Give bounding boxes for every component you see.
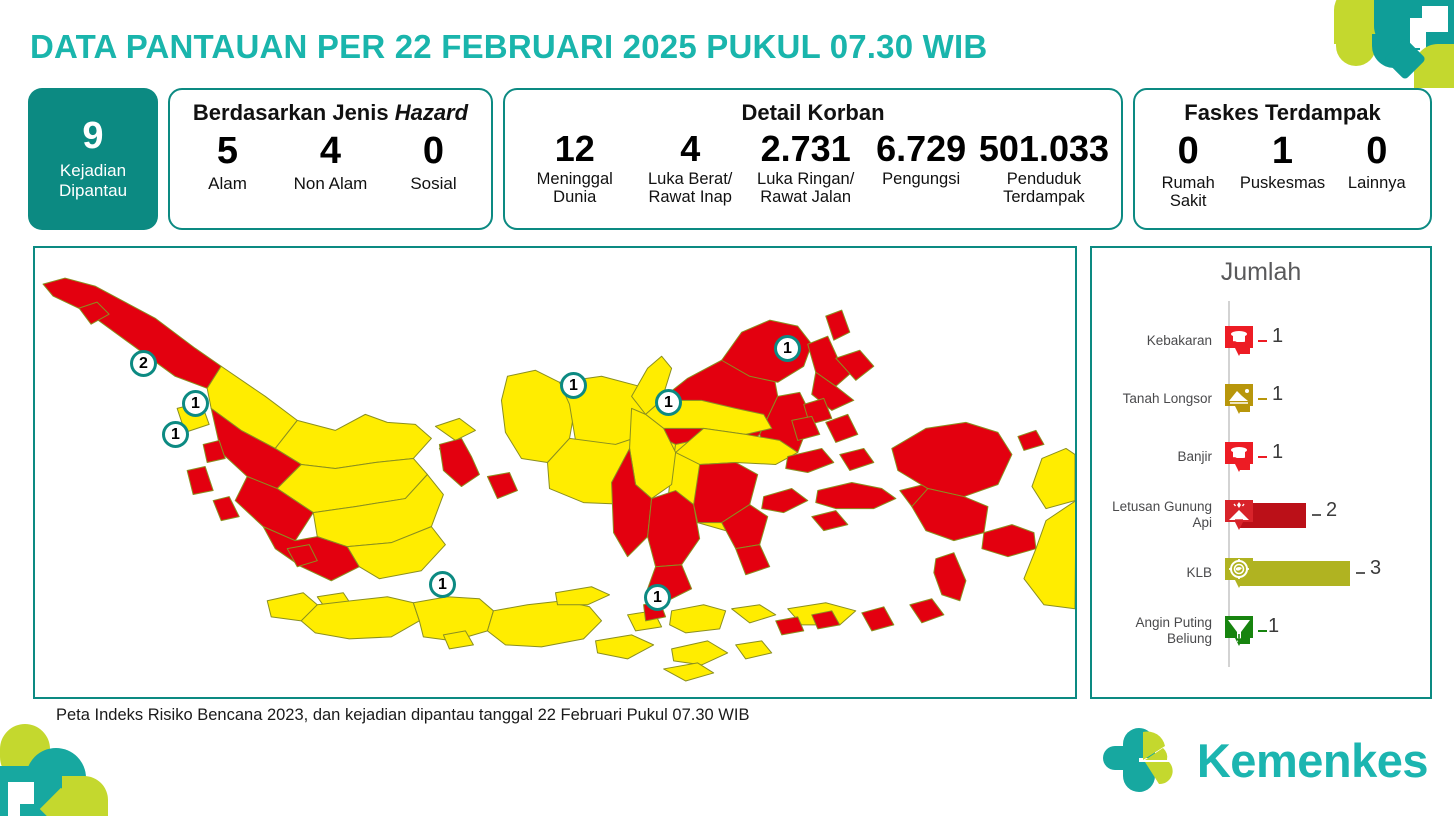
bar-label-klb: KLB: [1092, 565, 1220, 581]
flood-house-icon: [1222, 440, 1256, 474]
stat-meninggal-dunia: 12 Meninggal Dunia: [517, 130, 632, 207]
jumlah-chart-panel: Jumlah Kebakaran 1: [1090, 246, 1432, 699]
dashboard-page: DATA PANTAUAN PER 22 FEBRUARI 2025 PUKUL…: [0, 0, 1454, 816]
kejadian-dipantau-badge: 9 Kejadian Dipantau: [28, 88, 158, 230]
faskes-card-title: Faskes Terdampak: [1135, 100, 1430, 126]
stat-puskesmas-value: 1: [1235, 132, 1329, 172]
stat-non-alam-value: 4: [279, 132, 382, 172]
bar-tick-banjir: [1258, 456, 1267, 458]
bar-row-letusan-gunung-api[interactable]: Letusan Gunung Api 2: [1092, 487, 1434, 543]
bar-label-angin-puting-beliung: Angin Puting Beliung: [1092, 615, 1220, 647]
region-maluku6: [812, 511, 848, 531]
stat-meninggal-label: Meninggal Dunia: [517, 170, 632, 207]
bar-label-kebakaran: Kebakaran: [1092, 333, 1220, 349]
stat-luka-berat-value: 4: [632, 130, 747, 168]
stat-rumah-sakit-label: Rumah Sakit: [1141, 174, 1235, 211]
landslide-icon: [1222, 382, 1256, 416]
stat-alam: 5 Alam: [176, 132, 279, 193]
stat-penduduk-value: 501.033: [979, 130, 1109, 168]
map-marker-maluku-utara[interactable]: 1: [774, 335, 801, 362]
stat-rumah-sakit: 0 Rumah Sakit: [1141, 132, 1235, 211]
region-ntt2: [596, 635, 654, 659]
region-ntb: [670, 605, 726, 633]
korban-card-title: Detail Korban: [505, 100, 1121, 126]
bar-value-letusan-gunung-api: 2: [1326, 499, 1337, 522]
bar-tick-klb: [1356, 572, 1365, 574]
region-papua2: [1032, 448, 1075, 508]
stat-alam-value: 5: [176, 132, 279, 172]
kejadian-count: 9: [82, 117, 103, 155]
stat-sosial-value: 0: [382, 132, 485, 172]
flood-house-icon: [1222, 324, 1256, 358]
footnote: Peta Indeks Risiko Bencana 2023, dan kej…: [56, 706, 749, 725]
map-marker-sumatera-utara[interactable]: 2: [130, 350, 157, 377]
map-marker-riau[interactable]: 1: [182, 390, 209, 417]
stat-lainnya-label: Lainnya: [1330, 174, 1424, 192]
stat-puskesmas: 1 Puskesmas: [1235, 132, 1329, 192]
region-maluku2: [840, 448, 874, 470]
region-ntt3: [672, 641, 728, 665]
hazard-card: Berdasarkan Jenis Hazard 5 Alam 4 Non Al…: [168, 88, 493, 230]
stat-penduduk-label: Penduduk Terdampak: [979, 170, 1109, 207]
bar-row-tanah-longsor[interactable]: Tanah Longsor 1: [1092, 371, 1434, 427]
stat-pengungsi: 6.729 Pengungsi: [863, 130, 978, 188]
bar-row-banjir[interactable]: Banjir 1: [1092, 429, 1434, 485]
region-tanimbar: [910, 599, 944, 623]
bar-value-tanah-longsor: 1: [1272, 383, 1283, 406]
stat-penduduk-terdampak: 501.033 Penduduk Terdampak: [979, 130, 1109, 207]
hazard-title-italic: Hazard: [395, 100, 468, 125]
region-madura: [556, 587, 610, 605]
region-malut1: [826, 310, 850, 340]
decoration-top-right: [1326, 0, 1454, 88]
map-marker-jawa-tengah[interactable]: 1: [429, 571, 456, 598]
region-babar: [862, 607, 894, 631]
outbreak-icon: [1222, 556, 1256, 590]
kejadian-label-line2: Dipantau: [59, 181, 127, 200]
hazard-title-plain: Berdasarkan Jenis: [193, 100, 395, 125]
korban-stats: 12 Meninggal Dunia 4 Luka Berat/ Rawat I…: [505, 130, 1121, 207]
faskes-stats: 0 Rumah Sakit 1 Puskesmas 0 Lainnya: [1135, 132, 1430, 211]
region-bangka: [439, 438, 479, 486]
stat-lainnya-value: 0: [1330, 132, 1424, 172]
kemenkes-logo: Kemenkes: [1099, 722, 1428, 798]
bar-label-banjir: Banjir: [1092, 449, 1220, 465]
page-title: DATA PANTAUAN PER 22 FEBRUARI 2025 PUKUL…: [30, 28, 987, 66]
indonesia-risk-map[interactable]: 2 1 1 1 1 1 1 1: [33, 246, 1077, 699]
stat-luka-ringan-label: Luka Ringan/ Rawat Jalan: [748, 170, 863, 207]
stat-meninggal-value: 12: [517, 130, 632, 168]
stat-non-alam: 4 Non Alam: [279, 132, 382, 193]
chart-body: Kebakaran 1 Tanah Longsor: [1092, 293, 1430, 683]
region-belitung: [487, 473, 517, 499]
bar-value-kebakaran: 1: [1272, 325, 1283, 348]
region-papua-barat3: [982, 525, 1036, 557]
kemenkes-logo-text: Kemenkes: [1197, 733, 1428, 788]
region-papua-isl: [1018, 430, 1044, 450]
bar-value-klb: 3: [1370, 557, 1381, 580]
stat-luka-ringan: 2.731 Luka Ringan/ Rawat Jalan: [748, 130, 863, 207]
stat-non-alam-label: Non Alam: [279, 174, 382, 193]
bar-tick-tanah-longsor: [1258, 398, 1267, 400]
bar-label-letusan-gunung-api: Letusan Gunung Api: [1092, 499, 1220, 531]
region-jabar: [301, 597, 419, 639]
bar-tick-angin-puting-beliung: [1258, 630, 1267, 632]
kemenkes-cross-icon: [1099, 722, 1183, 798]
chart-title: Jumlah: [1092, 258, 1430, 287]
bar-tick-letusan-gunung-api: [1312, 514, 1321, 516]
stat-alam-label: Alam: [176, 174, 279, 193]
stat-sosial-label: Sosial: [382, 174, 485, 193]
region-ntt4: [736, 641, 772, 659]
bar-row-angin-puting-beliung[interactable]: Angin Puting Beliung 1: [1092, 603, 1434, 659]
decoration-bottom-left: [0, 720, 122, 816]
detail-korban-card: Detail Korban 12 Meninggal Dunia 4 Luka …: [503, 88, 1123, 230]
region-papua-barat: [892, 422, 1012, 496]
stat-luka-berat-label: Luka Berat/ Rawat Inap: [632, 170, 747, 207]
region-papua1: [1024, 501, 1075, 609]
map-svg: [35, 248, 1075, 697]
bar-row-kebakaran[interactable]: Kebakaran 1: [1092, 313, 1434, 369]
map-marker-nusa-tenggara-barat[interactable]: 1: [644, 584, 671, 611]
region-maluku4: [816, 483, 896, 509]
bar-value-banjir: 1: [1272, 441, 1283, 464]
region-sumba: [664, 663, 714, 681]
region-riau-isl: [435, 418, 475, 440]
hazard-stats: 5 Alam 4 Non Alam 0 Sosial: [170, 132, 491, 193]
region-sultra3: [736, 545, 770, 575]
tornado-icon: [1222, 614, 1256, 648]
stat-puskesmas-label: Puskesmas: [1235, 174, 1329, 192]
region-mentawai2: [187, 466, 213, 494]
hazard-card-title: Berdasarkan Jenis Hazard: [170, 100, 491, 126]
stat-luka-ringan-value: 2.731: [748, 130, 863, 168]
kemenkes-logo-mark: [1099, 722, 1183, 798]
volcano-icon: [1222, 498, 1256, 532]
map-marker-sumatera-barat[interactable]: 1: [162, 421, 189, 448]
region-aru: [934, 553, 966, 601]
stat-lainnya: 0 Lainnya: [1330, 132, 1424, 192]
kejadian-label-line1: Kejadian: [60, 161, 126, 180]
faskes-terdampak-card: Faskes Terdampak 0 Rumah Sakit 1 Puskesm…: [1133, 88, 1432, 230]
map-marker-sulawesi-utara[interactable]: 1: [655, 389, 682, 416]
kpi-row: 9 Kejadian Dipantau Berdasarkan Jenis Ha…: [28, 88, 1432, 230]
map-marker-kalimantan-timur[interactable]: 1: [560, 372, 587, 399]
region-papua-barat2: [912, 489, 988, 541]
bar-label-tanah-longsor: Tanah Longsor: [1092, 391, 1220, 407]
region-jatim: [487, 601, 601, 647]
bar-tick-kebakaran: [1258, 340, 1267, 342]
stat-luka-berat: 4 Luka Berat/ Rawat Inap: [632, 130, 747, 207]
region-ntb2: [732, 605, 776, 623]
bar-value-angin-puting-beliung: 1: [1268, 615, 1279, 638]
stat-rumah-sakit-value: 0: [1141, 132, 1235, 172]
stat-pengungsi-value: 6.729: [863, 130, 978, 168]
stat-pengungsi-label: Pengungsi: [863, 170, 978, 188]
stat-sosial: 0 Sosial: [382, 132, 485, 193]
region-maluku3: [762, 489, 808, 513]
bar-row-klb[interactable]: KLB 3: [1092, 545, 1434, 601]
